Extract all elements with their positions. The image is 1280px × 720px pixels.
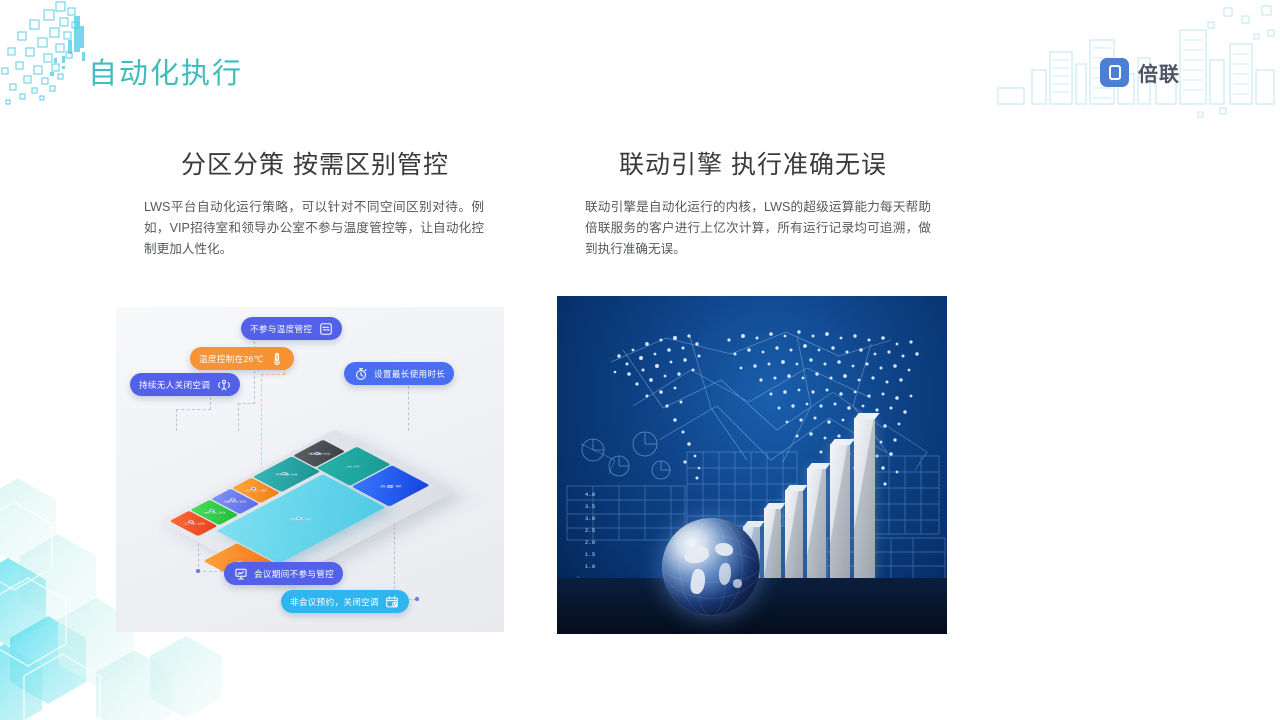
bar-column xyxy=(830,444,850,590)
callout-label: 非会议预约，关闭空调 xyxy=(290,596,379,608)
column-zoning: 分区分策 按需区别管控 LWS平台自动化运行策略，可以针对不同空间区别对待。例如… xyxy=(116,150,508,260)
callout-label: 温度控制在26℃ xyxy=(199,353,264,365)
bar-column xyxy=(807,468,826,590)
thermometer-icon xyxy=(270,351,285,366)
callout-unoccupied-shutdown[interactable]: 持续无人关闭空调 xyxy=(130,373,240,396)
panel-list-icon xyxy=(318,321,333,336)
stopwatch-icon xyxy=(353,366,368,381)
calendar-clock-icon xyxy=(385,594,400,609)
room-label: 会议室 xyxy=(379,484,402,487)
callout-label: 会议期间不参与管控 xyxy=(254,568,334,580)
callout-label: 设置最长使用时长 xyxy=(374,368,445,380)
brand-logo: 倍联 xyxy=(1100,58,1180,87)
column-body-zoning: LWS平台自动化运行策略，可以针对不同空间区别对待。例如，VIP招待室和领导办公… xyxy=(116,197,508,260)
floorplan-diagram-image: 卫生间 茶水间 操作间 办公室 特殊间 电梯间 xyxy=(116,307,504,632)
presentation-icon xyxy=(233,566,248,581)
tech-photo-image: 4.0 3.5 3.0 2.5 2.0 1.5 1.0 xyxy=(557,296,947,634)
callout-no-booking-shutdown[interactable]: 非会议预约，关闭空调 xyxy=(281,590,409,613)
room-label: 大厅 xyxy=(346,465,361,468)
page-title: 自动化执行 xyxy=(88,50,243,92)
callout-temperature-26[interactable]: 温度控制在26℃ xyxy=(190,347,294,370)
column-body-engine: 联动引擎是自动化运行的内核，LWS的超级运算能力每天帮助倍联服务的客户进行上亿次… xyxy=(557,197,949,260)
slide-root: 自动化执行 倍联 分区分策 按需区别管控 LWS平台自动化运行策略，可以针对不同… xyxy=(0,0,1280,720)
column-engine: 联动引擎 执行准确无误 联动引擎是自动化运行的内核，LWS的超级运算能力每天帮助… xyxy=(557,150,949,260)
room-label: 茶水间 xyxy=(203,511,226,514)
callout-meeting-exempt[interactable]: 会议期间不参与管控 xyxy=(224,562,343,585)
callout-max-usage-duration[interactable]: 设置最长使用时长 xyxy=(344,362,454,385)
callout-label: 不参与温度管控 xyxy=(250,323,312,335)
globe-3d-icon xyxy=(662,518,760,616)
room-label: 办公室 xyxy=(245,489,268,492)
rounded-square-logo-icon xyxy=(1100,58,1129,87)
motion-sensor-icon xyxy=(216,377,231,392)
callout-no-temperature-control[interactable]: 不参与温度管控 xyxy=(241,317,342,340)
column-heading-engine: 联动引擎 执行准确无误 xyxy=(557,150,949,180)
brand-name: 倍联 xyxy=(1138,58,1180,87)
bar-column xyxy=(785,490,803,590)
bar-column xyxy=(854,418,875,590)
callout-label: 持续无人关闭空调 xyxy=(139,379,210,391)
slide-header: 自动化执行 倍联 xyxy=(0,0,1280,118)
room-label: 电梯间 xyxy=(308,452,331,455)
room-label: 特殊间 xyxy=(275,473,298,476)
column-heading-zoning: 分区分策 按需区别管控 xyxy=(116,150,508,180)
